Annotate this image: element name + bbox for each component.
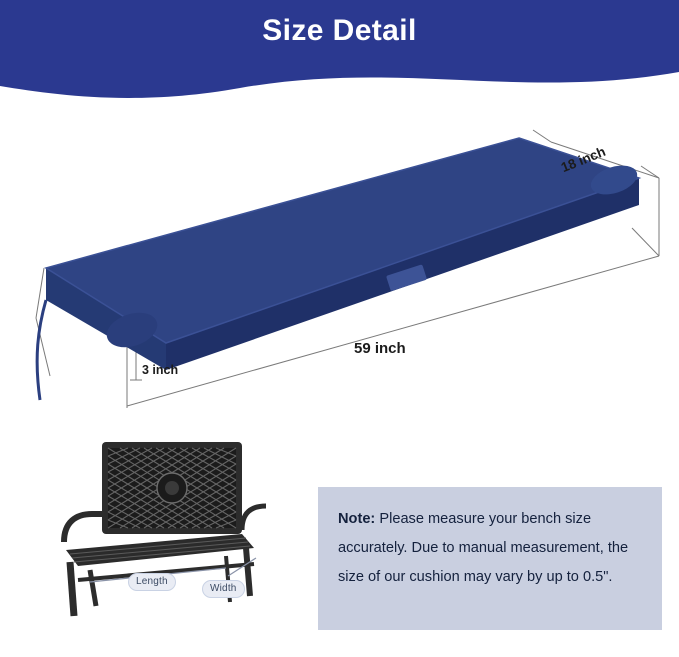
bench-width-pill: Width [202, 580, 245, 598]
page-title: Size Detail [0, 14, 679, 48]
cushion-illustration: 18 inch 59 inch 3 inch [14, 108, 664, 428]
bench-svg [30, 430, 302, 630]
note-text: Note: Please measure your bench size acc… [338, 505, 642, 592]
cushion-svg [14, 108, 664, 428]
bench-photo: Length Width [30, 430, 302, 630]
length-dimension-label: 59 inch [354, 340, 406, 357]
note-label: Note: [338, 511, 375, 527]
size-detail-infographic: Size Detail [0, 0, 679, 657]
note-body: Please measure your bench size accuratel… [338, 511, 628, 585]
thickness-dimension-label: 3 inch [142, 363, 178, 377]
bench-length-pill: Length [128, 573, 176, 591]
note-box: Note: Please measure your bench size acc… [318, 487, 662, 630]
